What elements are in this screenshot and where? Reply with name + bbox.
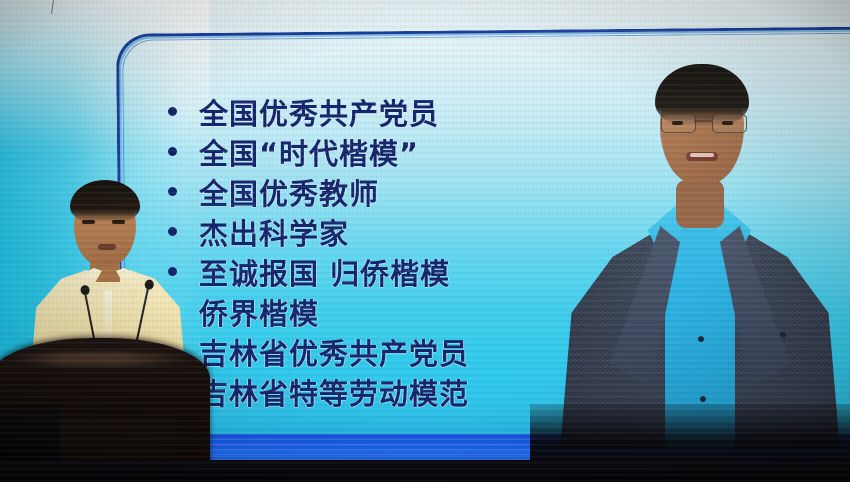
speaker-mouth [98, 244, 116, 250]
list-item: 全国“时代楷模” [168, 140, 588, 180]
list-item: 全国优秀共产党员 [168, 100, 588, 140]
slide-bullet-list: 全国优秀共产党员 全国“时代楷模” 全国优秀教师 杰出科学家 至诚报国 归侨楷模… [168, 100, 588, 420]
glasses-icon [660, 114, 746, 132]
list-item: 全国优秀教师 [168, 180, 588, 220]
bullet-label: 吉林省特等劳动模范 [199, 380, 469, 409]
bullet-label: 全国优秀教师 [199, 180, 379, 209]
speaker-eye-left [82, 220, 95, 224]
speaker-hair [70, 180, 140, 222]
bullet-label: 至诚报国 归侨楷模 [199, 260, 450, 289]
podium-top-highlight [4, 352, 196, 366]
bullet-label: 全国“时代楷模” [199, 140, 419, 169]
list-item: 杰出科学家 [168, 220, 588, 260]
stage-floor [0, 460, 850, 482]
bullet-label: 全国优秀共产党员 [199, 100, 439, 129]
bullet-dot-icon [168, 147, 177, 156]
bullet-label: 侨界楷模 [199, 300, 319, 329]
stage-scene: 全国优秀共产党员 全国“时代楷模” 全国优秀教师 杰出科学家 至诚报国 归侨楷模… [0, 0, 850, 482]
bullet-label: 杰出科学家 [199, 220, 349, 249]
bullet-dot-icon [168, 107, 177, 116]
portrait-button [698, 336, 704, 342]
list-item: 吉林省特等劳动模范 [168, 380, 588, 420]
list-item: 吉林省优秀共产党员 [168, 340, 588, 380]
portrait-button [700, 396, 706, 402]
glasses-bridge [694, 120, 712, 122]
bullet-label: 吉林省优秀共产党员 [199, 340, 469, 369]
portrait-neck [676, 180, 724, 228]
speaker-eye-right [112, 220, 125, 224]
list-item: 侨界楷模 [168, 300, 588, 340]
portrait-button [780, 332, 786, 338]
portrait-eye-left [672, 121, 683, 125]
portrait-photo [548, 30, 850, 448]
list-item: 至诚报国 归侨楷模 [168, 260, 588, 300]
portrait-eye-right [722, 121, 733, 125]
portrait-mouth [686, 152, 718, 161]
